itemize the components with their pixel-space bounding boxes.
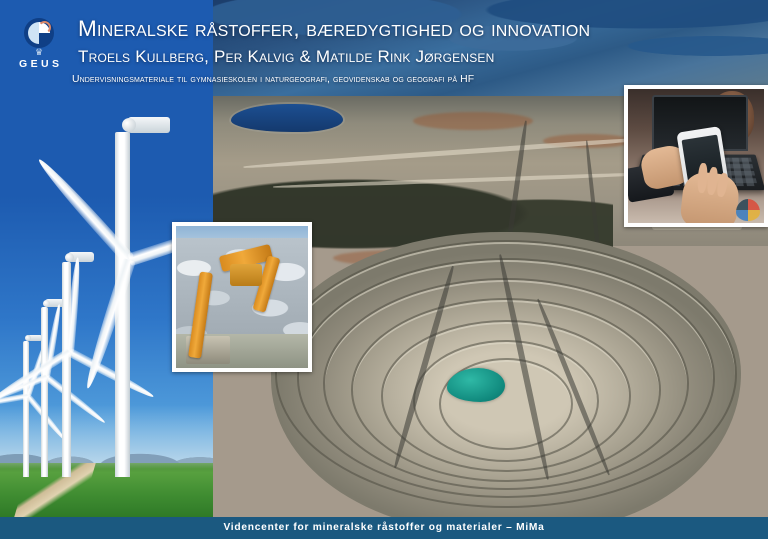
excavator-cab: [230, 264, 262, 286]
tailings-reservoir: [231, 104, 343, 132]
pit-bottom-pond: [447, 368, 505, 402]
geus-wordmark: GEUS: [13, 58, 65, 70]
geus-emblem-arc: [38, 21, 51, 34]
open-pit: [271, 232, 741, 517]
scrap-metal-excavator-photo: [172, 222, 312, 372]
turbine-hub: [25, 335, 31, 341]
turbine-hub: [122, 118, 136, 132]
inset-photo-body: [176, 226, 308, 368]
ore-stain: [413, 112, 533, 130]
turbine-tower: [23, 341, 29, 477]
poster-cover: ♛ GEUS Mineralske råstoffer, bæredygtigh…: [0, 0, 768, 539]
inset-photo-body: [628, 89, 764, 223]
authors-line: Troels Kullberg, Per Kalvig & Matilde Ri…: [78, 47, 495, 67]
geus-logo[interactable]: ♛ GEUS: [13, 18, 65, 76]
header: Mineralske råstoffer, bæredygtighed og i…: [0, 0, 768, 100]
smartphone-laptop-photo: [624, 85, 768, 227]
subtitle-line: Undervisningsmateriale til gymnasieskole…: [72, 74, 474, 85]
turbine-blade: [67, 348, 155, 401]
crown-icon: ♛: [33, 49, 45, 56]
geus-circle-emblem-icon: [24, 18, 54, 48]
turbine-tower: [41, 307, 48, 477]
turbine-hub: [43, 300, 50, 307]
page-title: Mineralske råstoffer, bæredygtighed og i…: [78, 16, 590, 42]
footer-text: Videncenter for mineralske råstoffer og …: [0, 517, 768, 539]
distant-mountains: [0, 443, 213, 465]
turbine-hub: [65, 253, 74, 262]
footer-bar: Videncenter for mineralske råstoffer og …: [0, 517, 768, 539]
color-swatch-wheel: [736, 199, 760, 221]
